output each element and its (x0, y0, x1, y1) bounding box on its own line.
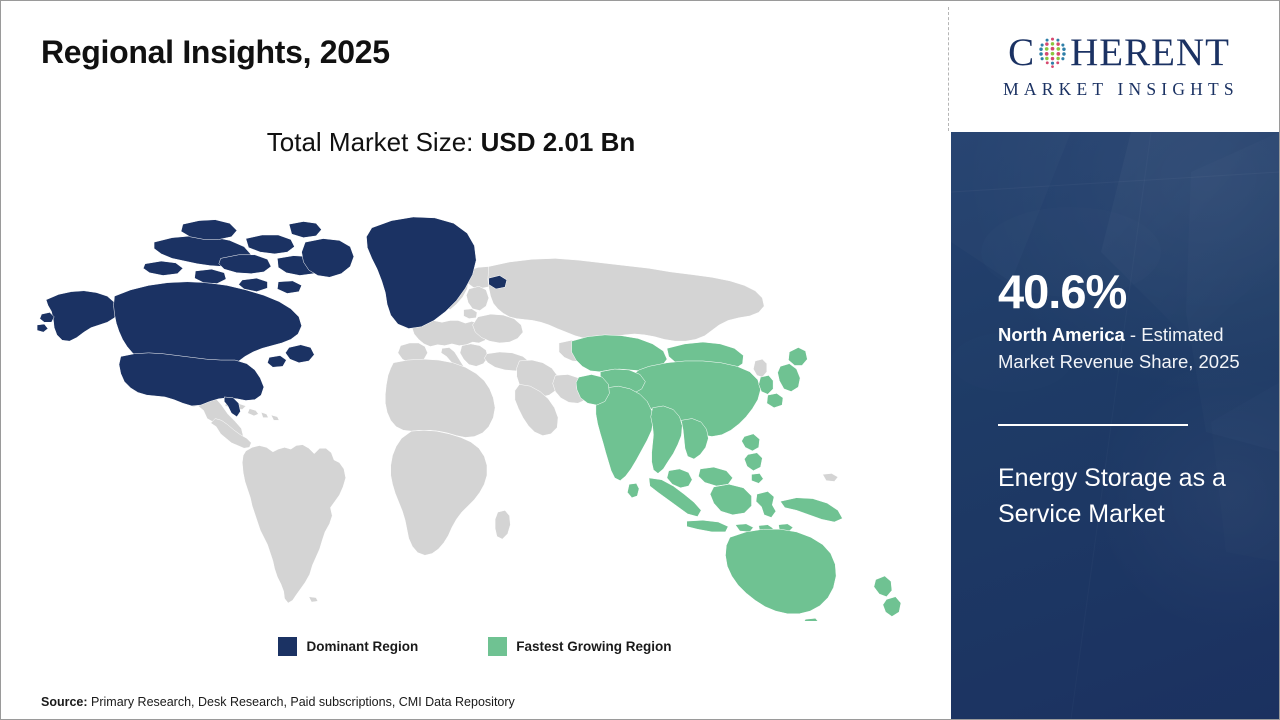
world-map-svg (19, 181, 919, 621)
legend-swatch-growing-icon (488, 637, 507, 656)
logo-letter-c: C (1008, 33, 1035, 72)
source-note: Source: Primary Research, Desk Research,… (41, 695, 515, 709)
left-content-panel: Regional Insights, 2025 Total Market Siz… (1, 1, 949, 719)
map-legend: Dominant Region Fastest Growing Region (1, 637, 949, 656)
stat-percentage: 40.6% (998, 268, 1126, 315)
legend-item-dominant: Dominant Region (278, 637, 418, 656)
source-label: Source: (41, 695, 88, 709)
logo-subtitle: MARKET INSIGHTS (999, 79, 1239, 100)
vertical-divider (948, 7, 949, 131)
panel-divider-rule (998, 424, 1188, 426)
legend-label-growing: Fastest Growing Region (516, 639, 671, 654)
market-name: Energy Storage as a Service Market (998, 460, 1238, 532)
stat-description: North America - Estimated Market Revenue… (998, 322, 1262, 376)
globe-dots-icon (1036, 36, 1069, 69)
total-market-size-label: Total Market Size: (267, 127, 481, 157)
page-title: Regional Insights, 2025 (41, 34, 390, 71)
stat-region-name: North America (998, 324, 1125, 345)
stat-panel-content: 40.6% North America - Estimated Market R… (998, 132, 1260, 719)
legend-item-growing: Fastest Growing Region (488, 637, 671, 656)
logo-wordmark: C (1008, 33, 1230, 72)
legend-label-dominant: Dominant Region (306, 639, 418, 654)
regional-insights-slide: Regional Insights, 2025 Total Market Siz… (0, 0, 1280, 720)
total-market-size: Total Market Size: USD 2.01 Bn (1, 127, 901, 158)
logo-word-herent: HERENT (1070, 33, 1230, 72)
total-market-size-value: USD 2.01 Bn (481, 127, 636, 157)
map-region-asia-pacific (572, 335, 901, 621)
brand-logo: C (950, 1, 1280, 132)
legend-swatch-dominant-icon (278, 637, 297, 656)
right-sidebar: C (950, 1, 1280, 719)
world-map-container (19, 181, 919, 621)
source-text: Primary Research, Desk Research, Paid su… (88, 695, 515, 709)
stat-panel: 40.6% North America - Estimated Market R… (951, 132, 1280, 719)
